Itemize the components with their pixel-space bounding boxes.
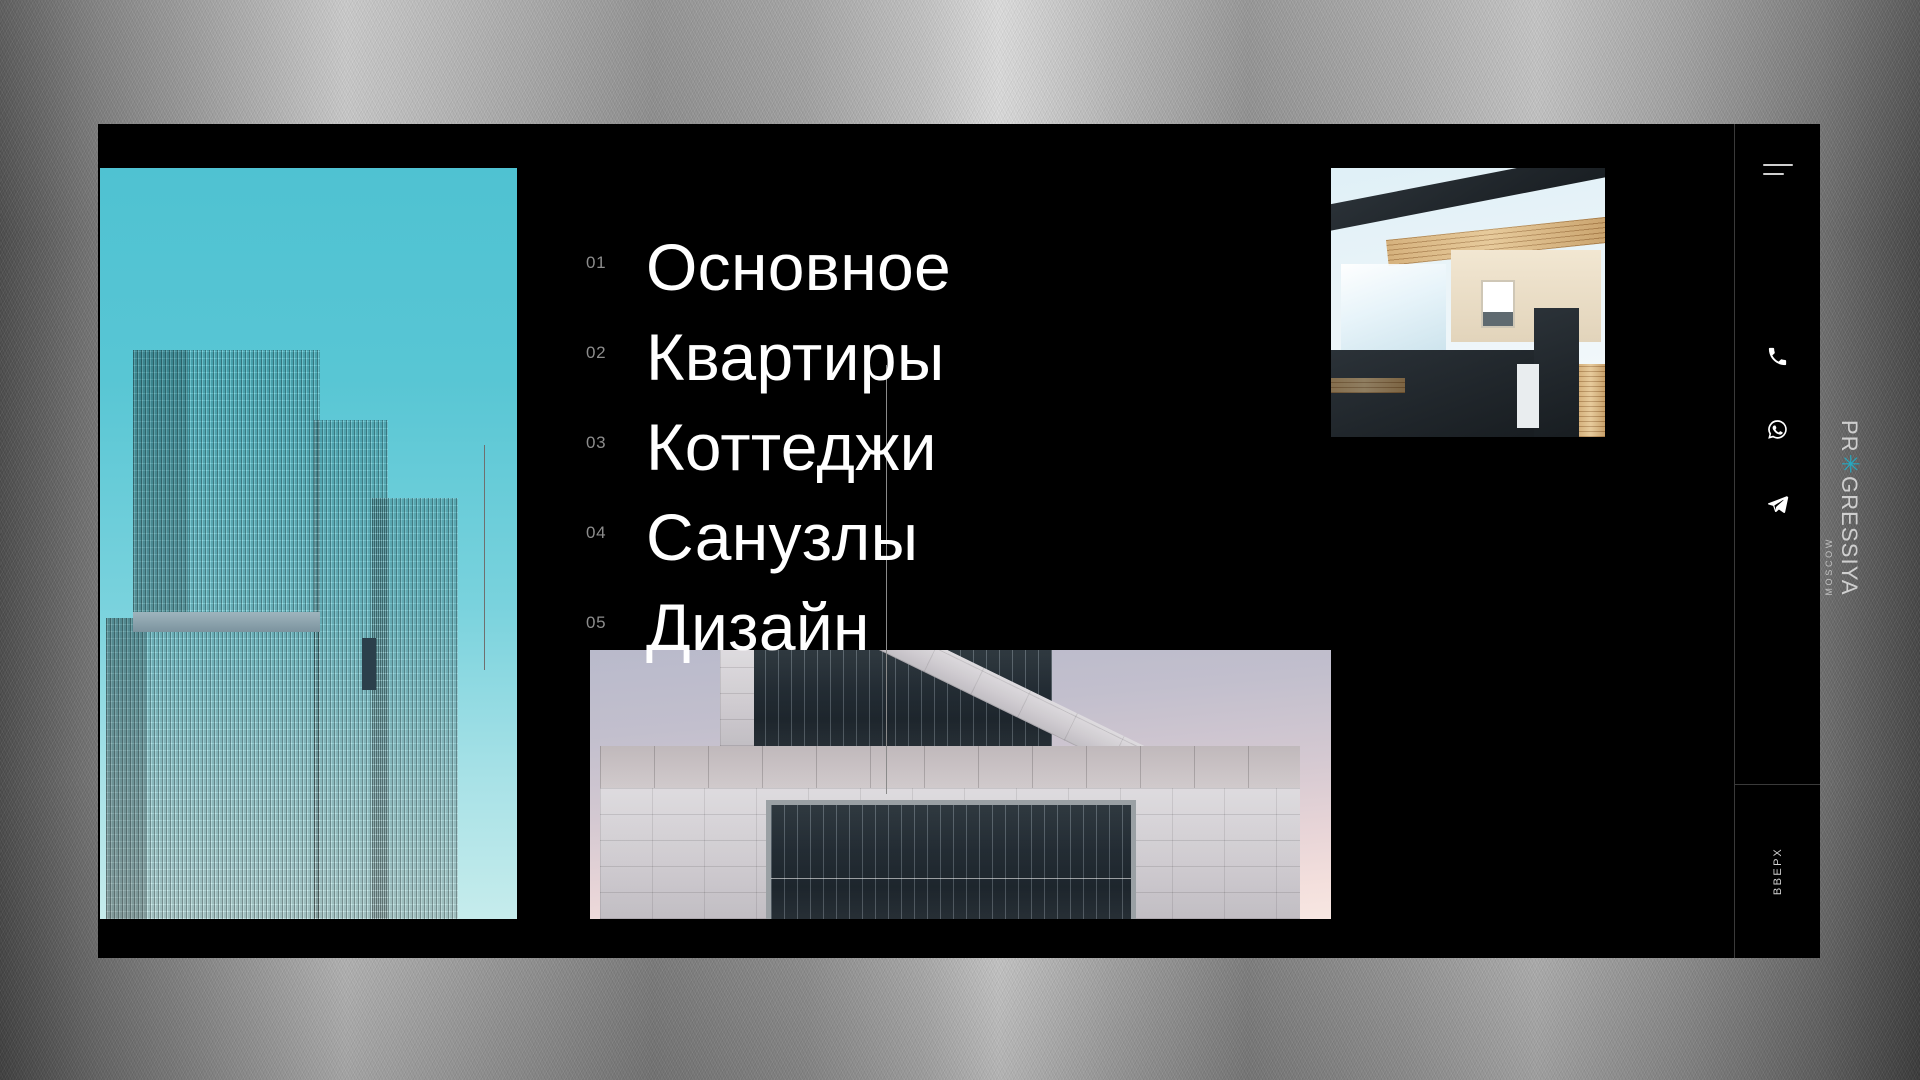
tower-main-upper	[133, 350, 320, 618]
cottage-white-panel	[1517, 364, 1539, 428]
cottage-right-wood	[1579, 364, 1605, 437]
nav-item-label: Квартиры	[646, 324, 945, 390]
telegram-icon[interactable]	[1765, 490, 1791, 516]
nav-item-number: 04	[586, 523, 646, 543]
museum-window-frame	[766, 800, 1136, 919]
tower-main-lower	[106, 618, 320, 919]
tower-notch	[362, 638, 376, 690]
concrete-museum-photo	[590, 650, 1331, 919]
glass-towers-photo	[100, 168, 517, 919]
cottage-window	[1481, 280, 1515, 328]
hamburger-line-top	[1763, 164, 1793, 166]
tower-cantilever-soffit	[133, 612, 320, 632]
nav-item-kvartiry[interactable]: 02 Квартиры	[586, 324, 1466, 414]
scroll-to-top-label: ВВЕРХ	[1772, 847, 1784, 895]
museum-parapet	[600, 746, 1300, 788]
right-sidebar: ВВЕРХ	[1734, 124, 1820, 958]
nav-item-kottedzhi[interactable]: 03 Коттеджи	[586, 414, 1466, 504]
nav-item-label: Коттеджи	[646, 414, 937, 480]
sidebar-bottom-section[interactable]: ВВЕРХ	[1735, 785, 1820, 957]
nav-item-number: 05	[586, 613, 646, 633]
nav-item-number: 02	[586, 343, 646, 363]
section-nav-list: 01 Основное 02 Квартиры 03 Коттеджи 04 С…	[586, 234, 1466, 684]
sidebar-top-section	[1735, 124, 1820, 785]
nav-item-label: Санузлы	[646, 504, 918, 570]
whatsapp-icon[interactable]	[1765, 416, 1791, 442]
nav-item-number: 03	[586, 433, 646, 453]
nav-item-label: Дизайн	[646, 594, 870, 660]
phone-icon[interactable]	[1765, 343, 1791, 369]
nav-progress-rule	[484, 445, 485, 670]
nav-item-number: 01	[586, 253, 646, 273]
nav-item-osnovnoe[interactable]: 01 Основное	[586, 234, 1466, 324]
nav-item-sanuzly[interactable]: 04 Санузлы	[586, 504, 1466, 594]
hamburger-icon[interactable]	[1763, 164, 1793, 182]
tower-mid	[314, 420, 388, 919]
site-window: 01 Основное 02 Квартиры 03 Коттеджи 04 С…	[98, 124, 1820, 958]
nav-item-dizayn[interactable]: 05 Дизайн	[586, 594, 1466, 684]
hamburger-line-bottom	[1763, 173, 1784, 175]
nav-item-label: Основное	[646, 234, 951, 300]
cottage-right-pier	[1534, 308, 1579, 437]
